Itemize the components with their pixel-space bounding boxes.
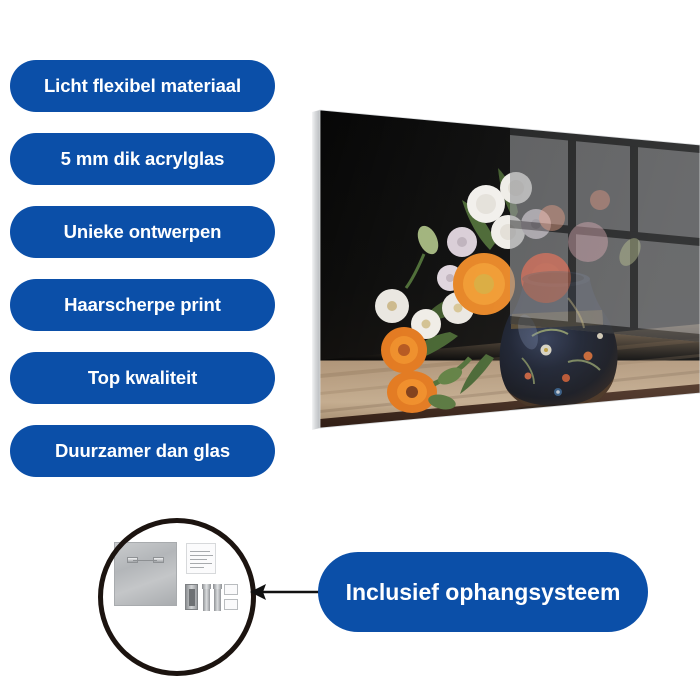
feature-badge[interactable]: Unieke ontwerpen — [10, 206, 275, 258]
feature-badge-label: Licht flexibel materiaal — [44, 77, 241, 96]
callout-badge-label: Inclusief ophangsysteem — [346, 581, 621, 604]
feature-badge[interactable]: Duurzamer dan glas — [10, 425, 275, 477]
feature-badge[interactable]: Haarscherpe print — [10, 279, 275, 331]
feature-badge[interactable]: Top kwaliteit — [10, 352, 275, 404]
feature-badge-label: Unieke ontwerpen — [64, 223, 222, 242]
inset-circle-outline — [98, 518, 256, 676]
feature-badge-label: Duurzamer dan glas — [55, 442, 230, 461]
product-highlight-graphic: Licht flexibel materiaal 5 mm dik acrylg… — [0, 0, 700, 700]
feature-badge-label: Haarscherpe print — [64, 296, 221, 315]
acrylic-print-panel — [300, 92, 700, 442]
feature-badge-label: 5 mm dik acrylglas — [61, 150, 225, 169]
panel-illustration — [300, 92, 700, 442]
feature-badge[interactable]: 5 mm dik acrylglas — [10, 133, 275, 185]
feature-badge[interactable]: Licht flexibel materiaal — [10, 60, 275, 112]
panel-edge-thickness — [312, 110, 320, 430]
callout-connector — [246, 572, 326, 612]
hanging-system-inset — [98, 518, 256, 676]
hanging-system-callout-badge[interactable]: Inclusief ophangsysteem — [318, 552, 648, 632]
panel-face — [300, 92, 700, 442]
feature-badge-label: Top kwaliteit — [88, 369, 197, 388]
